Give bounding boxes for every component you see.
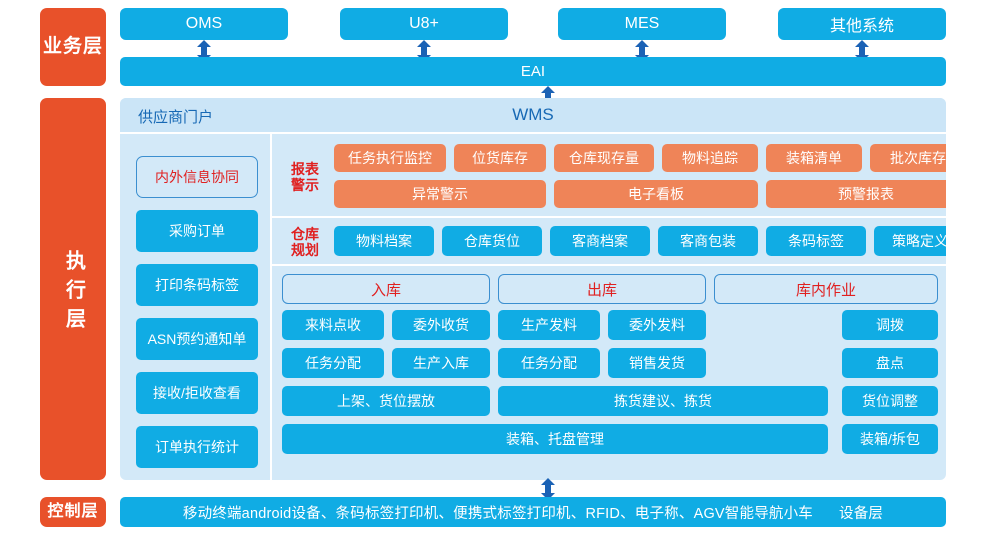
sidebar-item-internal-external-coordination[interactable]: 内外信息协同 (136, 156, 258, 198)
sidebar-item-label: 订单执行统计 (155, 437, 239, 457)
chip-label: 装箱清单 (786, 148, 842, 168)
wms-panel: 供应商门户 WMS 内外信息协同 采购订单 打印条码标签 ASN预约通知单 接收… (120, 98, 946, 480)
sidebar-item-asn-notice[interactable]: ASN预约通知单 (136, 318, 258, 360)
section-header-label: 出库 (587, 279, 617, 300)
report-chip-task-monitor[interactable]: 任务执行监控 (334, 144, 446, 172)
system-box-mes-label: MES (625, 15, 660, 33)
chip-label: 策略定义 (892, 231, 946, 251)
section-header-label: 库内作业 (796, 279, 856, 300)
operation-chip-task-assignment-outbound[interactable]: 任务分配 (498, 348, 600, 378)
operations-band: 入库 出库 库内作业 来料点收 委外收货 生产发料 委外发料 调拨 (272, 266, 946, 480)
operation-chip-transfer[interactable]: 调拨 (842, 310, 938, 340)
operation-chip-task-assignment-inbound[interactable]: 任务分配 (282, 348, 384, 378)
chip-label: 装箱/拆包 (860, 429, 920, 449)
system-box-u8[interactable]: U8+ (340, 8, 508, 40)
planning-chip-material-archive[interactable]: 物料档案 (334, 226, 434, 256)
chip-label: 装箱、托盘管理 (506, 429, 604, 449)
report-chip-material-tracking[interactable]: 物料追踪 (662, 144, 758, 172)
operation-chip-production-issue[interactable]: 生产发料 (498, 310, 600, 340)
chip-label: 货位调整 (862, 391, 918, 411)
operation-chip-packing-unpacking[interactable]: 装箱/拆包 (842, 424, 938, 454)
chip-label: 异常警示 (412, 184, 468, 204)
planning-chip-warehouse-location[interactable]: 仓库货位 (442, 226, 542, 256)
warehouse-planning-label-line2: 规划 (291, 242, 319, 258)
system-box-other-label: 其他系统 (830, 12, 894, 36)
eai-bus[interactable]: EAI (120, 57, 946, 86)
report-chip-warehouse-stock[interactable]: 仓库现存量 (554, 144, 654, 172)
chip-label: 任务执行监控 (348, 148, 432, 168)
sidebar-item-print-barcode-label[interactable]: 打印条码标签 (136, 264, 258, 306)
sidebar-item-receive-reject-view[interactable]: 接收/拒收查看 (136, 372, 258, 414)
sidebar-item-label: ASN预约通知单 (148, 329, 247, 349)
layer-tag-control: 控制层 (40, 497, 106, 527)
operations-header-inbound[interactable]: 入库 (282, 274, 490, 304)
sidebar-item-order-execution-stats[interactable]: 订单执行统计 (136, 426, 258, 468)
operation-chip-putaway-placement[interactable]: 上架、货位摆放 (282, 386, 490, 416)
chip-label: 任务分配 (305, 353, 361, 373)
system-box-u8-label: U8+ (409, 15, 439, 33)
layer-tag-business: 业务层 (40, 8, 106, 86)
sidebar-item-purchase-order[interactable]: 采购订单 (136, 210, 258, 252)
device-layer-label: 设备层 (839, 502, 883, 523)
chip-label: 仓库现存量 (569, 148, 639, 168)
chip-label: 生产发料 (521, 315, 577, 335)
report-chip-warning-report[interactable]: 预警报表 (766, 180, 946, 208)
operation-chip-incoming-check[interactable]: 来料点收 (282, 310, 384, 340)
layer-tag-business-label: 业务层 (43, 35, 103, 59)
report-chip-packing-list[interactable]: 装箱清单 (766, 144, 862, 172)
layer-tag-execution-label: 执行层 (61, 241, 86, 337)
chip-label: 客商包装 (680, 231, 736, 251)
operations-header-internal[interactable]: 库内作业 (714, 274, 938, 304)
sidebar-item-label: 采购订单 (169, 221, 225, 241)
report-chip-batch-inventory[interactable]: 批次库存 (870, 144, 946, 172)
report-chip-location-inventory[interactable]: 位货库存 (454, 144, 546, 172)
sidebar-item-label: 打印条码标签 (155, 275, 239, 295)
warehouse-planning-label-line1: 仓库 (291, 226, 319, 242)
report-alert-label: 报表 警示 (280, 152, 330, 202)
chip-label: 生产入库 (413, 353, 469, 373)
chip-label: 物料档案 (356, 231, 412, 251)
chip-label: 上架、货位摆放 (337, 391, 435, 411)
device-layer-bar[interactable]: 移动终端android设备、条码标签打印机、便携式标签打印机、RFID、电子称、… (120, 497, 946, 527)
wms-title: WMS (120, 105, 946, 125)
warehouse-planning-band: 仓库 规划 物料档案 仓库货位 客商档案 客商包装 条码标签 策略定义 (272, 218, 946, 266)
chip-label: 物料追踪 (682, 148, 738, 168)
operation-chip-packing-pallet-management[interactable]: 装箱、托盘管理 (282, 424, 828, 454)
eai-bus-label: EAI (521, 63, 545, 80)
report-chip-exception-alert[interactable]: 异常警示 (334, 180, 546, 208)
chip-label: 来料点收 (305, 315, 361, 335)
wms-content: 报表 警示 任务执行监控 位货库存 仓库现存量 物料追踪 装箱清单 批次库存 异… (272, 134, 946, 480)
chip-label: 预警报表 (838, 184, 894, 204)
chip-label: 位货库存 (472, 148, 528, 168)
chip-label: 任务分配 (521, 353, 577, 373)
chip-label: 委外发料 (629, 315, 685, 335)
operation-chip-outsourced-issue[interactable]: 委外发料 (608, 310, 706, 340)
system-box-mes[interactable]: MES (558, 8, 726, 40)
chip-label: 委外收货 (413, 315, 469, 335)
chip-label: 盘点 (876, 353, 904, 373)
device-list-text: 移动终端android设备、条码标签打印机、便携式标签打印机、RFID、电子称、… (183, 502, 813, 523)
chip-label: 客商档案 (572, 231, 628, 251)
planning-chip-strategy-definition[interactable]: 策略定义 (874, 226, 946, 256)
system-box-other[interactable]: 其他系统 (778, 8, 946, 40)
operation-chip-picking-suggestion[interactable]: 拣货建议、拣货 (498, 386, 828, 416)
wms-sidebar: 内外信息协同 采购订单 打印条码标签 ASN预约通知单 接收/拒收查看 订单执行… (120, 134, 272, 480)
layer-tag-control-label: 控制层 (47, 502, 98, 522)
sidebar-item-label: 接收/拒收查看 (153, 383, 241, 403)
architecture-diagram: 业务层 OMS U8+ MES 其他系统 EAI 执行层 供应商门户 WMS (0, 0, 1000, 536)
section-header-label: 入库 (371, 279, 401, 300)
warehouse-planning-label: 仓库 规划 (280, 224, 330, 260)
chip-label: 电子看板 (628, 184, 684, 204)
planning-chip-barcode-label[interactable]: 条码标签 (766, 226, 866, 256)
report-alert-band: 报表 警示 任务执行监控 位货库存 仓库现存量 物料追踪 装箱清单 批次库存 异… (272, 134, 946, 218)
chip-label: 条码标签 (788, 231, 844, 251)
chip-label: 调拨 (876, 315, 904, 335)
sidebar-item-label: 内外信息协同 (155, 167, 239, 187)
wms-panel-header: 供应商门户 WMS (120, 98, 946, 134)
report-alert-label-line1: 报表 (291, 161, 319, 177)
system-box-oms[interactable]: OMS (120, 8, 288, 40)
operation-chip-stocktaking[interactable]: 盘点 (842, 348, 938, 378)
chip-label: 仓库货位 (464, 231, 520, 251)
planning-chip-customer-packaging[interactable]: 客商包装 (658, 226, 758, 256)
chip-label: 销售发货 (629, 353, 685, 373)
operation-chip-outsourced-receipt[interactable]: 委外收货 (392, 310, 490, 340)
operation-chip-production-receipt[interactable]: 生产入库 (392, 348, 490, 378)
system-box-oms-label: OMS (186, 15, 222, 33)
operation-chip-sales-shipment[interactable]: 销售发货 (608, 348, 706, 378)
layer-tag-execution: 执行层 (40, 98, 106, 480)
report-chip-electronic-board[interactable]: 电子看板 (554, 180, 758, 208)
chip-label: 拣货建议、拣货 (614, 391, 712, 411)
report-alert-label-line2: 警示 (291, 177, 319, 193)
operations-header-outbound[interactable]: 出库 (498, 274, 706, 304)
chip-label: 批次库存 (890, 148, 946, 168)
planning-chip-customer-archive[interactable]: 客商档案 (550, 226, 650, 256)
operation-chip-location-adjustment[interactable]: 货位调整 (842, 386, 938, 416)
